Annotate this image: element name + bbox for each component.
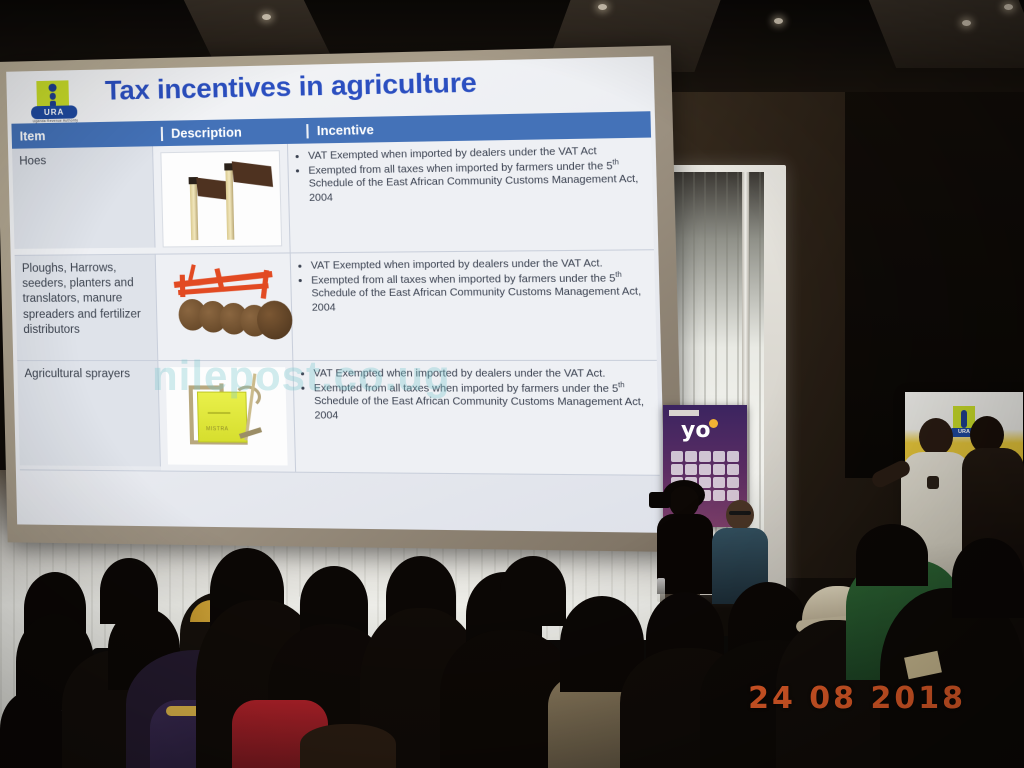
cell-description: MISTRA <box>158 361 296 472</box>
cell-item: Agricultural sprayers <box>17 361 161 466</box>
cell-incentive: VAT Exempted when imported by dealers un… <box>291 250 657 360</box>
table-row: Ploughs, Harrows, seeders, planters and … <box>15 250 657 361</box>
conference-photo: URA Uganda Revenue Authority Tax incenti… <box>0 0 1024 768</box>
audience-head <box>300 724 396 768</box>
slide-title: Tax incentives in agriculture <box>105 67 477 107</box>
audience-head <box>856 524 928 586</box>
door-handle[interactable] <box>776 440 790 510</box>
presentation-slide: URA Uganda Revenue Authority Tax incenti… <box>6 56 665 532</box>
column-header-incentive: Incentive <box>306 117 651 138</box>
incentives-table: Item Description Incentive Hoes <box>11 111 659 476</box>
knapsack-sprayer-image: MISTRA <box>166 367 288 465</box>
ceiling-downlight-icon <box>1004 4 1013 10</box>
column-header-description: Description <box>161 124 307 141</box>
ceiling-downlight-icon <box>598 4 607 10</box>
yo-banner-logo: yo <box>681 418 710 443</box>
ceiling-soffit <box>179 0 333 60</box>
column-header-item: Item <box>12 126 162 143</box>
incentive-bullet: Exempted from all taxes when imported by… <box>311 271 648 314</box>
hoes-image <box>160 150 282 247</box>
camera-operator-person <box>655 480 715 590</box>
cell-incentive: VAT Exempted when imported by dealers un… <box>293 361 659 475</box>
yo-banner-dot-icon <box>709 419 718 428</box>
audience-head <box>952 538 1024 618</box>
cell-item: Ploughs, Harrows, seeders, planters and … <box>15 255 159 360</box>
incentive-bullet: Exempted from all taxes when imported by… <box>308 159 645 205</box>
cell-item: Hoes <box>12 146 156 249</box>
ceiling-downlight-icon <box>262 14 271 20</box>
cell-description <box>153 144 291 254</box>
cell-incentive: VAT Exempted when imported by dealers un… <box>288 138 654 253</box>
incentive-bullet: Exempted from all taxes when imported by… <box>314 382 651 424</box>
cell-description <box>156 253 294 360</box>
incentive-bullet: VAT Exempted when imported by dealers un… <box>313 367 649 381</box>
ceiling-soffit <box>864 0 1024 68</box>
ura-logo-abbr: URA <box>31 105 77 119</box>
ceiling-downlight-icon <box>962 20 971 26</box>
camera-date-stamp: 24 08 2018 <box>748 681 966 716</box>
audience-head <box>500 556 566 626</box>
table-row: Hoes VAT Exempted when imported by deale… <box>12 138 654 256</box>
table-row: Agricultural sprayers MISTRA <box>17 361 660 476</box>
video-camera-icon <box>649 492 671 508</box>
ceiling-downlight-icon <box>774 18 783 24</box>
ura-logo-icon: URA Uganda Revenue Authority <box>28 80 81 125</box>
audience-head <box>0 690 66 768</box>
disc-harrow-image <box>163 260 285 354</box>
projection-screen: URA Uganda Revenue Authority Tax incenti… <box>0 45 702 574</box>
incentive-bullet: VAT Exempted when imported by dealers un… <box>311 257 647 273</box>
